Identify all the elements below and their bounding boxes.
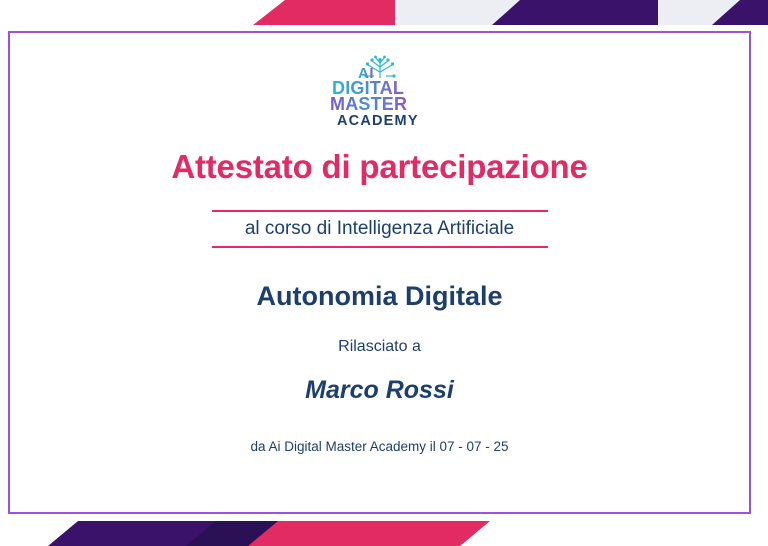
deco-top-gray-shape-1 [395, 0, 520, 25]
deco-top-gray-shape-2 [658, 0, 740, 25]
certificate-subtitle-container: al corso di Intelligenza Artificiale [212, 210, 548, 248]
academy-logo: AI DIGITAL MASTER ACADEMY [327, 54, 433, 128]
issued-to-label: Rilasciato a [338, 339, 421, 355]
logo-line-3: MASTER [330, 94, 407, 114]
deco-top-purple-shape-1 [492, 0, 658, 25]
deco-top-pink-trapezoid [253, 0, 395, 25]
logo-line-4: ACADEMY [337, 113, 419, 128]
certificate-title: Attestato di partecipazione [171, 150, 587, 183]
deco-bottom-purple-parallelogram-1 [48, 521, 243, 546]
certificate-content: AI DIGITAL MASTER ACADEMY Attestato di p… [8, 31, 751, 514]
deco-bottom-pink-parallelogram [248, 521, 490, 546]
certificate-subtitle: al corso di Intelligenza Artificiale [212, 219, 548, 238]
course-name: Autonomia Digitale [256, 283, 502, 310]
deco-top-purple-shape-2 [712, 0, 768, 25]
deco-bottom-purple-parallelogram-2 [186, 521, 296, 546]
recipient-name: Marco Rossi [305, 378, 454, 403]
certificate-footer: da Ai Digital Master Academy il 07 - 07 … [250, 440, 508, 454]
